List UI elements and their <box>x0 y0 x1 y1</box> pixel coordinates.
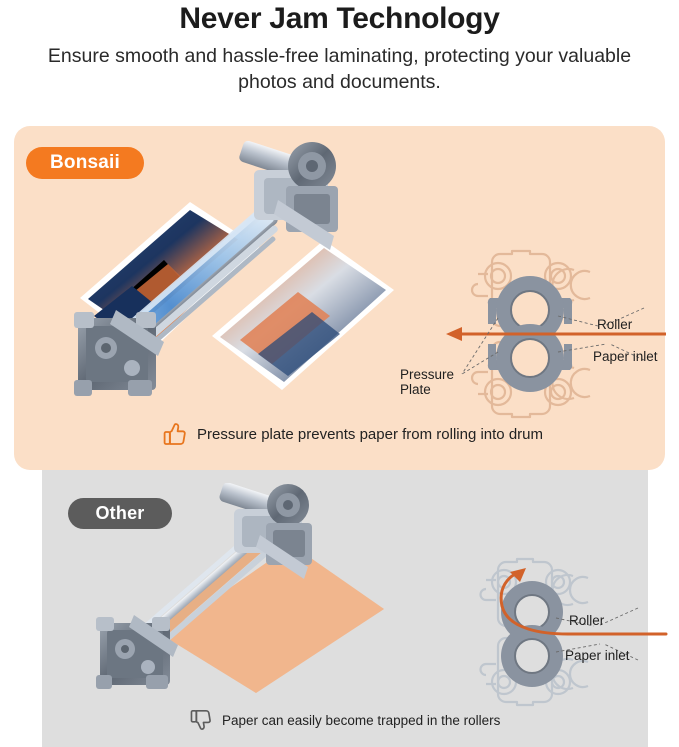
page-subtitle: Ensure smooth and hassle-free laminating… <box>0 36 679 96</box>
verdict-text-bonsaii: Pressure plate prevents paper from rolli… <box>197 426 543 443</box>
verdict-text-other: Paper can easily become trapped in the r… <box>222 713 500 728</box>
thumbs-down-icon <box>190 708 213 732</box>
diagram-label-paper-inlet-bonsaii: Paper inlet <box>593 349 658 364</box>
verdict-other: Paper can easily become trapped in the r… <box>190 708 500 732</box>
roller-diagram-bonsaii <box>438 248 668 420</box>
badge-other: Other <box>68 498 172 529</box>
laminator-illustration-bonsaii <box>72 140 402 430</box>
verdict-bonsaii: Pressure plate prevents paper from rolli… <box>163 421 543 447</box>
diagram-label-pressure-plate-bonsaii: Pressure Plate <box>400 367 454 397</box>
thumbs-up-icon <box>163 421 188 447</box>
gear-block-other <box>96 615 178 689</box>
diagram-label-paper-inlet-other: Paper inlet <box>565 648 630 663</box>
diagram-label-roller-other: Roller <box>569 613 604 628</box>
gear-block <box>74 310 164 396</box>
plain-sheet <box>162 545 384 693</box>
badge-bonsaii: Bonsaii <box>26 147 144 179</box>
diagram-label-roller-bonsaii: Roller <box>597 317 632 332</box>
page-title: Never Jam Technology <box>0 0 679 36</box>
header: Never Jam Technology Ensure smooth and h… <box>0 0 679 96</box>
roller-diagram-other <box>448 556 668 708</box>
